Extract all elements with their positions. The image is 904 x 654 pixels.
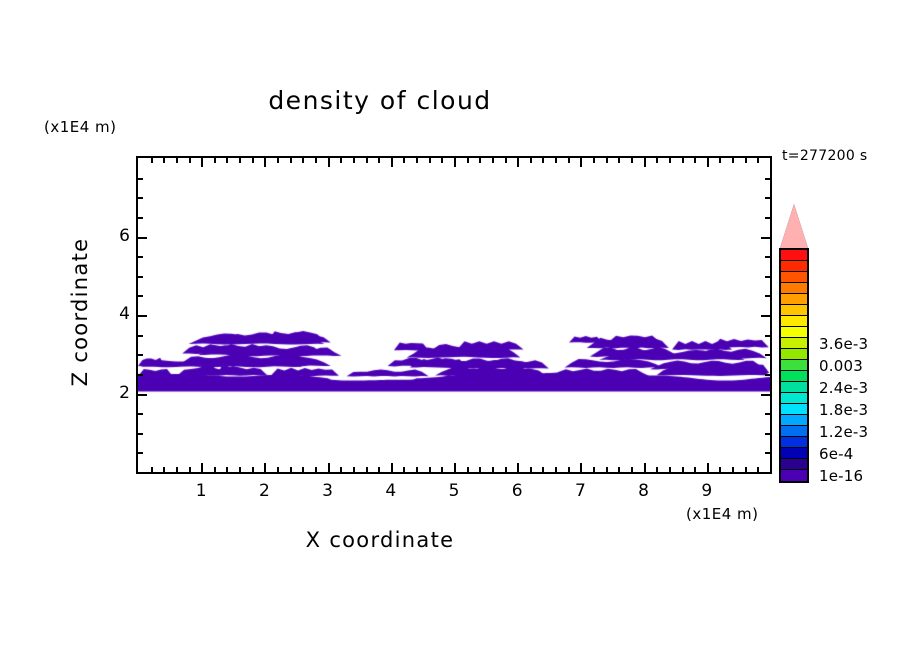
y-tick — [138, 374, 143, 376]
contour-canvas — [138, 158, 770, 472]
x-tick — [467, 467, 469, 472]
x-tick-top — [290, 158, 292, 163]
y-tick — [138, 394, 147, 396]
y-axis-unit-label: (x1E4 m) — [44, 118, 117, 136]
colorbar-band — [781, 261, 807, 272]
x-tick — [403, 467, 405, 472]
x-tick-top — [176, 158, 178, 163]
x-tick-top — [694, 158, 696, 163]
x-tick — [277, 467, 279, 472]
x-tick — [593, 467, 595, 472]
y-tick-right — [765, 217, 770, 219]
x-tick — [479, 467, 481, 472]
colorbar-arrow-icon — [780, 204, 808, 248]
x-tick — [290, 467, 292, 472]
x-tick-label: 6 — [502, 481, 532, 501]
colorbar-band — [781, 470, 807, 481]
x-tick — [151, 467, 153, 472]
x-tick — [719, 467, 721, 472]
y-tick — [138, 315, 147, 317]
time-annotation: t=277200 s — [782, 148, 867, 164]
x-tick — [517, 463, 519, 472]
y-tick — [138, 178, 143, 180]
x-tick-top — [340, 158, 342, 163]
x-tick — [580, 463, 582, 472]
x-tick-label: 1 — [186, 481, 216, 501]
x-tick — [353, 467, 355, 472]
x-tick-label: 4 — [376, 481, 406, 501]
x-tick-top — [669, 158, 671, 163]
x-tick — [542, 467, 544, 472]
x-tick-label: 3 — [313, 481, 343, 501]
colorbar-band — [781, 459, 807, 470]
x-tick-top — [441, 158, 443, 163]
x-tick — [441, 467, 443, 472]
y-tick — [138, 197, 143, 199]
x-tick-label: 5 — [439, 481, 469, 501]
x-tick — [416, 467, 418, 472]
page-title: density of cloud — [0, 86, 760, 115]
colorbar-band — [781, 349, 807, 360]
x-tick-top — [264, 158, 266, 167]
y-tick-right — [761, 315, 770, 317]
x-tick-top — [214, 158, 216, 163]
x-tick — [505, 467, 507, 472]
x-tick — [214, 467, 216, 472]
y-tick — [138, 217, 143, 219]
x-tick-top — [201, 158, 203, 167]
x-tick — [264, 463, 266, 472]
x-tick-top — [353, 158, 355, 163]
colorbar-band — [781, 382, 807, 393]
colorbar-band — [781, 272, 807, 283]
colorbar-band — [781, 305, 807, 316]
x-tick-top — [302, 158, 304, 163]
y-tick-label: 4 — [100, 304, 130, 324]
y-tick-right — [765, 276, 770, 278]
y-tick — [138, 237, 147, 239]
x-tick-top — [429, 158, 431, 163]
y-tick-right — [765, 374, 770, 376]
y-tick — [138, 256, 143, 258]
x-tick-top — [391, 158, 393, 167]
x-tick — [694, 467, 696, 472]
x-tick — [328, 463, 330, 472]
x-tick — [391, 463, 393, 472]
x-tick — [429, 467, 431, 472]
colorbar-band — [781, 404, 807, 415]
x-axis-title: X coordinate — [0, 528, 760, 552]
colorbar-bands — [779, 248, 809, 483]
x-tick — [201, 463, 203, 472]
y-tick-right — [765, 295, 770, 297]
x-tick-top — [542, 158, 544, 163]
x-tick-top — [568, 158, 570, 163]
x-tick-top — [226, 158, 228, 163]
x-tick-top — [757, 158, 759, 163]
colorbar-band — [781, 327, 807, 338]
x-tick-label: 8 — [629, 481, 659, 501]
x-tick — [631, 467, 633, 472]
x-tick-top — [163, 158, 165, 163]
y-tick — [138, 433, 143, 435]
x-tick — [340, 467, 342, 472]
y-tick-right — [761, 237, 770, 239]
x-tick — [176, 467, 178, 472]
colorbar-band — [781, 437, 807, 448]
x-tick-top — [315, 158, 317, 163]
colorbar-band — [781, 250, 807, 261]
x-tick — [606, 467, 608, 472]
x-tick-top — [492, 158, 494, 163]
x-tick — [707, 463, 709, 472]
x-tick — [454, 463, 456, 472]
colorbar-label: 2.4e-3 — [819, 379, 868, 397]
x-tick — [239, 467, 241, 472]
x-tick-top — [403, 158, 405, 163]
x-tick-top — [467, 158, 469, 163]
x-tick-top — [328, 158, 330, 167]
colorbar-label: 1.2e-3 — [819, 423, 868, 441]
x-tick — [568, 467, 570, 472]
y-tick-right — [765, 354, 770, 356]
y-tick-label: 6 — [100, 226, 130, 246]
colorbar-band — [781, 426, 807, 437]
x-tick-top — [707, 158, 709, 167]
y-tick-right — [765, 452, 770, 454]
y-tick-right — [765, 256, 770, 258]
y-tick — [138, 335, 143, 337]
x-tick — [378, 467, 380, 472]
colorbar-band — [781, 283, 807, 294]
y-tick — [138, 276, 143, 278]
plot-area — [136, 156, 772, 474]
x-tick-top — [239, 158, 241, 163]
x-tick-top — [151, 158, 153, 163]
x-tick-top — [732, 158, 734, 163]
x-tick — [644, 463, 646, 472]
x-tick-top — [593, 158, 595, 163]
y-tick-label: 2 — [100, 383, 130, 403]
x-axis-unit-label: (x1E4 m) — [686, 505, 759, 523]
x-tick — [302, 467, 304, 472]
x-tick — [189, 467, 191, 472]
x-tick-top — [606, 158, 608, 163]
x-tick-top — [277, 158, 279, 163]
x-tick-top — [252, 158, 254, 163]
colorbar-band — [781, 316, 807, 327]
x-tick — [555, 467, 557, 472]
x-tick — [732, 467, 734, 472]
x-tick-top — [189, 158, 191, 163]
colorbar-band — [781, 360, 807, 371]
x-tick-top — [745, 158, 747, 163]
x-tick — [492, 467, 494, 472]
y-tick-right — [765, 433, 770, 435]
x-tick — [656, 467, 658, 472]
x-tick — [226, 467, 228, 472]
x-tick — [530, 467, 532, 472]
colorbar-label: 0.003 — [819, 357, 863, 375]
colorbar-label: 1.8e-3 — [819, 401, 868, 419]
x-tick — [618, 467, 620, 472]
x-tick-top — [580, 158, 582, 167]
x-tick-top — [631, 158, 633, 163]
x-tick-top — [530, 158, 532, 163]
colorbar-band — [781, 448, 807, 459]
x-tick-top — [644, 158, 646, 167]
y-tick — [138, 295, 143, 297]
y-tick — [138, 452, 143, 454]
y-axis-title: Z coordinate — [68, 212, 92, 412]
x-tick-top — [366, 158, 368, 163]
x-tick-label: 9 — [692, 481, 722, 501]
colorbar-label: 3.6e-3 — [819, 335, 868, 353]
x-tick — [682, 467, 684, 472]
x-tick — [315, 467, 317, 472]
colorbar-label: 6e-4 — [819, 445, 854, 463]
x-tick — [669, 467, 671, 472]
x-tick — [757, 467, 759, 472]
colorbar-band — [781, 338, 807, 349]
x-tick — [366, 467, 368, 472]
x-tick — [745, 467, 747, 472]
colorbar-band — [781, 393, 807, 404]
y-tick-right — [765, 178, 770, 180]
x-tick-top — [416, 158, 418, 163]
colorbar-band — [781, 371, 807, 382]
x-tick-label: 2 — [249, 481, 279, 501]
x-tick-top — [719, 158, 721, 163]
x-tick-top — [555, 158, 557, 163]
x-tick-top — [682, 158, 684, 163]
y-tick-right — [765, 335, 770, 337]
x-tick-top — [517, 158, 519, 167]
x-tick-top — [454, 158, 456, 167]
x-tick-top — [618, 158, 620, 163]
colorbar-band — [781, 415, 807, 426]
x-tick-top — [656, 158, 658, 163]
y-tick-right — [765, 413, 770, 415]
x-tick — [252, 467, 254, 472]
x-tick-top — [479, 158, 481, 163]
x-tick-label: 7 — [565, 481, 595, 501]
x-tick-top — [505, 158, 507, 163]
x-tick-top — [378, 158, 380, 163]
y-tick-right — [765, 197, 770, 199]
y-tick — [138, 354, 143, 356]
y-tick — [138, 413, 143, 415]
colorbar-band — [781, 294, 807, 305]
colorbar-label: 1e-16 — [819, 467, 863, 485]
y-tick-right — [761, 394, 770, 396]
x-tick — [163, 467, 165, 472]
